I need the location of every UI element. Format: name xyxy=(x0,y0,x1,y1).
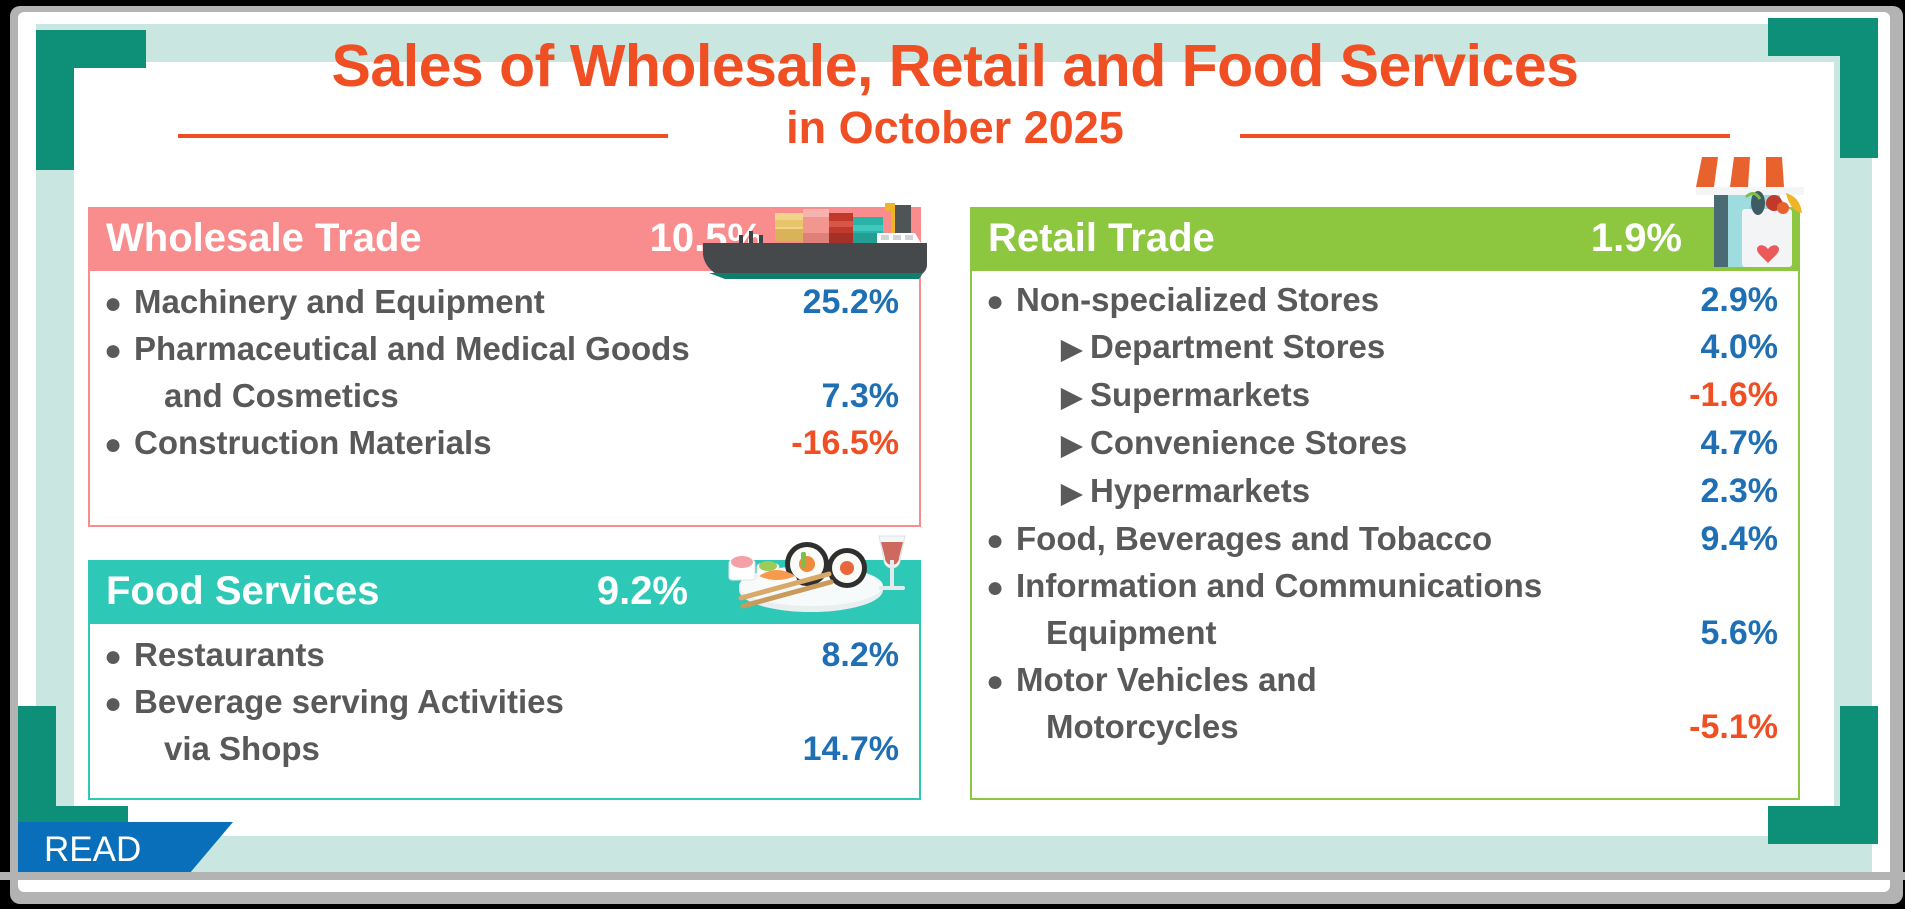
list-item-value: 2.9% xyxy=(1658,278,1778,323)
list-item: via Shops14.7% xyxy=(104,726,899,773)
panel-food-services: Food Services 9.2% xyxy=(88,560,921,800)
list-item-label: Motorcycles xyxy=(1016,704,1239,749)
list-item: ●Construction Materials-16.5% xyxy=(104,420,899,467)
continuation-spacer xyxy=(986,612,1016,657)
list-item-value: 25.2% xyxy=(769,280,899,325)
list-item-value: -16.5% xyxy=(769,421,899,466)
triangle-right-icon: ▶ xyxy=(1048,423,1090,468)
panel-value-food: 9.2% xyxy=(597,569,903,614)
list-item: Motorcycles-5.1% xyxy=(986,704,1778,751)
list-item-value: 9.4% xyxy=(1658,517,1778,562)
panel-header-retail: Retail Trade 1.9% xyxy=(970,207,1800,269)
list-item-label: Restaurants xyxy=(134,632,325,677)
bullet-icon: ● xyxy=(104,634,134,679)
list-item-value: -5.1% xyxy=(1658,705,1778,750)
page-title: Sales of Wholesale, Retail and Food Serv… xyxy=(60,36,1850,156)
list-item-label: Pharmaceutical and Medical Goods xyxy=(134,326,690,371)
bullet-icon: ● xyxy=(104,281,134,326)
slide-bottom-edge xyxy=(0,872,1905,880)
list-item-label: Information and Communications xyxy=(1016,563,1542,608)
list-item-value: 4.7% xyxy=(1658,421,1778,466)
list-item: ▶Supermarkets-1.6% xyxy=(986,372,1778,420)
panel-body-retail: ●Non-specialized Stores2.9%▶Department S… xyxy=(970,269,1800,800)
triangle-right-icon: ▶ xyxy=(1048,471,1090,516)
bullet-icon: ● xyxy=(986,659,1016,704)
list-item: ●Beverage serving Activities xyxy=(104,679,899,726)
list-item: ●Information and Communications xyxy=(986,563,1778,610)
list-item: ▶Department Stores4.0% xyxy=(986,324,1778,372)
panel-title-retail: Retail Trade xyxy=(988,216,1215,261)
list-item: ●Pharmaceutical and Medical Goods xyxy=(104,326,899,373)
list-item-label: Supermarkets xyxy=(1090,372,1310,417)
list-item-value: 2.3% xyxy=(1658,469,1778,514)
panel-value-wholesale: 10.5% xyxy=(650,216,903,261)
panel-header-food: Food Services 9.2% xyxy=(88,560,921,622)
panel-body-food: ●Restaurants8.2%●Beverage serving Activi… xyxy=(88,622,921,800)
bullet-icon: ● xyxy=(986,279,1016,324)
list-item-value: 7.3% xyxy=(769,374,899,419)
list-item-label: Motor Vehicles and xyxy=(1016,657,1317,702)
panel-value-retail: 1.9% xyxy=(1591,216,1782,261)
list-item-label: Convenience Stores xyxy=(1090,420,1407,465)
list-item-label: Department Stores xyxy=(1090,324,1385,369)
list-item-value: 14.7% xyxy=(769,727,899,772)
title-line-1: Sales of Wholesale, Retail and Food Serv… xyxy=(60,36,1850,98)
bullet-icon: ● xyxy=(986,518,1016,563)
list-item-label: Non-specialized Stores xyxy=(1016,277,1379,322)
list-item: and Cosmetics7.3% xyxy=(104,373,899,420)
panel-retail-trade: Retail Trade 1.9% xyxy=(970,207,1800,800)
list-item-value: -1.6% xyxy=(1658,373,1778,418)
list-item-label: and Cosmetics xyxy=(134,373,399,418)
list-item-label: via Shops xyxy=(134,726,320,771)
list-item: ●Machinery and Equipment25.2% xyxy=(104,279,899,326)
continuation-spacer xyxy=(104,728,134,773)
panel-title-wholesale: Wholesale Trade xyxy=(106,216,422,261)
list-item: ●Food, Beverages and Tobacco9.4% xyxy=(986,516,1778,563)
list-item: Equipment5.6% xyxy=(986,610,1778,657)
list-item: ▶Hypermarkets2.3% xyxy=(986,468,1778,516)
triangle-right-icon: ▶ xyxy=(1048,375,1090,420)
bullet-icon: ● xyxy=(104,681,134,726)
list-item-label: Food, Beverages and Tobacco xyxy=(1016,516,1492,561)
continuation-spacer xyxy=(104,375,134,420)
list-item: ●Non-specialized Stores2.9% xyxy=(986,277,1778,324)
list-item: ●Restaurants8.2% xyxy=(104,632,899,679)
title-line-2-row: in October 2025 xyxy=(60,100,1850,156)
list-item-label: Equipment xyxy=(1016,610,1217,655)
panel-wholesale-trade: Wholesale Trade 10.5% xyxy=(88,207,921,527)
panel-title-food: Food Services xyxy=(106,569,379,614)
list-item-value: 4.0% xyxy=(1658,325,1778,370)
panel-header-wholesale: Wholesale Trade 10.5% xyxy=(88,207,921,269)
list-item: ▶Convenience Stores4.7% xyxy=(986,420,1778,468)
bullet-icon: ● xyxy=(104,422,134,467)
list-item-label: Construction Materials xyxy=(134,420,492,465)
triangle-right-icon: ▶ xyxy=(1048,327,1090,372)
list-item-value: 5.6% xyxy=(1658,611,1778,656)
list-item-value: 8.2% xyxy=(769,633,899,678)
list-item-label: Machinery and Equipment xyxy=(134,279,545,324)
slide-canvas: Sales of Wholesale, Retail and Food Serv… xyxy=(0,0,1905,909)
list-item: ●Motor Vehicles and xyxy=(986,657,1778,704)
bullet-icon: ● xyxy=(104,328,134,373)
title-line-2: in October 2025 xyxy=(60,100,1850,156)
bullet-icon: ● xyxy=(986,565,1016,610)
panel-body-wholesale: ●Machinery and Equipment25.2%●Pharmaceut… xyxy=(88,269,921,527)
continuation-spacer xyxy=(986,706,1016,751)
list-item-label: Hypermarkets xyxy=(1090,468,1310,513)
list-item-label: Beverage serving Activities xyxy=(134,679,564,724)
